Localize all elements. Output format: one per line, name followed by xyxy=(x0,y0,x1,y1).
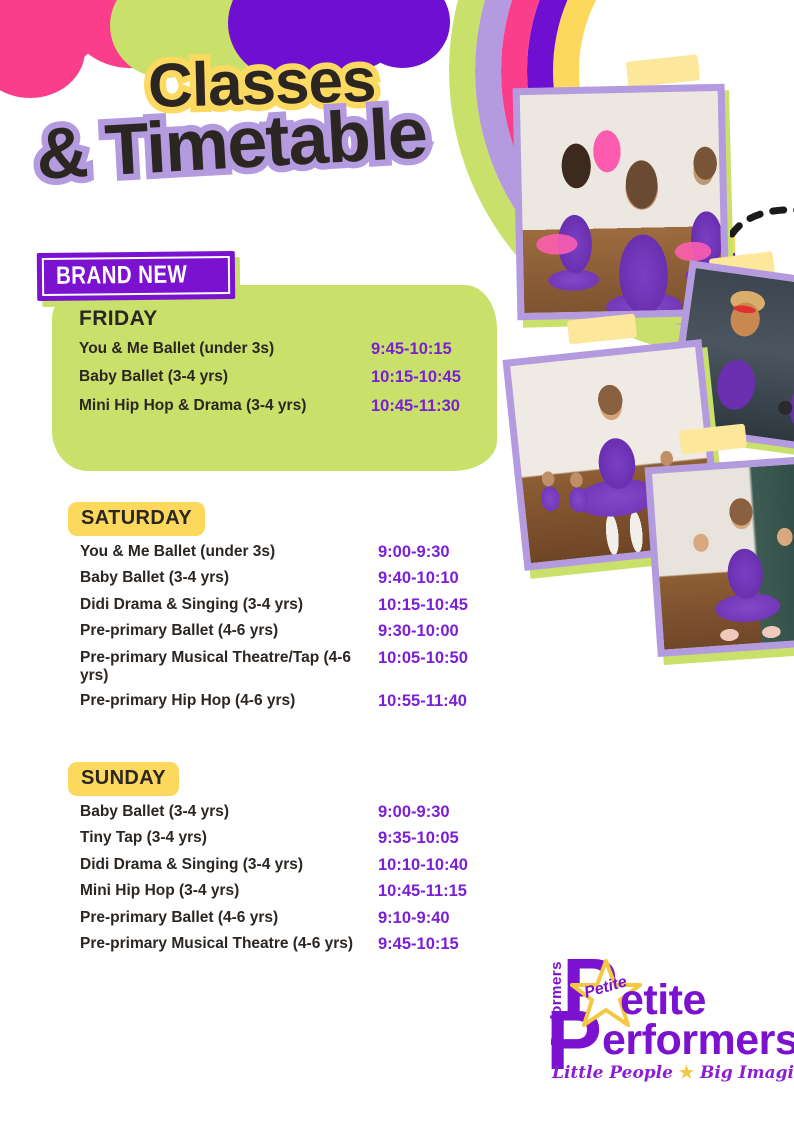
class-name: You & Me Ballet (under 3s) xyxy=(79,340,371,358)
class-time: 9:45-10:15 xyxy=(371,340,452,359)
class-time: 9:10-9:40 xyxy=(378,909,450,928)
schedule-section-saturday: SATURDAY You & Me Ballet (under 3s) 9:00… xyxy=(68,502,498,719)
photo-4-girl-hands-up xyxy=(645,455,794,657)
class-rows-saturday: You & Me Ballet (under 3s) 9:00-9:30 Bab… xyxy=(68,543,510,712)
logo-word-petite: etite xyxy=(620,983,706,1017)
class-name: You & Me Ballet (under 3s) xyxy=(80,543,378,561)
class-name: Mini Hip Hop (3-4 yrs) xyxy=(80,882,378,900)
logo-vertical-word: Performers xyxy=(548,961,565,1046)
poster-page: Classes & Timetable xyxy=(0,0,794,1123)
class-name: Baby Ballet (3-4 yrs) xyxy=(79,368,371,386)
class-time: 10:05-10:50 xyxy=(378,649,468,668)
table-row: Baby Ballet (3-4 yrs) 10:15-10:45 xyxy=(79,368,489,387)
class-name: Mini Hip Hop & Drama (3-4 yrs) xyxy=(79,397,371,415)
class-time: 10:15-10:45 xyxy=(371,368,461,387)
table-row: Mini Hip Hop & Drama (3-4 yrs) 10:45-11:… xyxy=(79,397,489,416)
photo-collage xyxy=(505,55,794,635)
class-name: Pre-primary Hip Hop (4-6 yrs) xyxy=(80,692,378,710)
class-time: 10:55-11:40 xyxy=(378,692,467,711)
table-row: Tiny Tap (3-4 yrs) 9:35-10:05 xyxy=(80,829,510,848)
class-time: 9:30-10:00 xyxy=(378,622,459,641)
class-time: 9:00-9:30 xyxy=(378,543,450,562)
day-heading-friday: FRIDAY xyxy=(79,307,489,331)
tape-strip-1 xyxy=(626,54,700,87)
class-time: 9:40-10:10 xyxy=(378,569,459,588)
class-time: 10:10-10:40 xyxy=(378,856,468,875)
table-row: Baby Ballet (3-4 yrs) 9:40-10:10 xyxy=(80,569,510,588)
brand-new-badge: BRAND NEW xyxy=(37,251,236,301)
table-row: You & Me Ballet (under 3s) 9:00-9:30 xyxy=(80,543,510,562)
page-title: Classes & Timetable xyxy=(0,48,520,188)
schedule-section-sunday: SUNDAY Baby Ballet (3-4 yrs) 9:00-9:30 T… xyxy=(68,762,498,962)
class-time: 9:00-9:30 xyxy=(378,803,450,822)
class-name: Pre-primary Musical Theatre (4-6 yrs) xyxy=(80,935,378,953)
table-row: Didi Drama & Singing (3-4 yrs) 10:15-10:… xyxy=(80,596,510,615)
class-time: 9:45-10:15 xyxy=(378,935,459,954)
logo-word-performers: erformers xyxy=(602,1023,794,1057)
table-row: Baby Ballet (3-4 yrs) 9:00-9:30 xyxy=(80,803,510,822)
table-row: Pre-primary Ballet (4-6 yrs) 9:10-9:40 xyxy=(80,909,510,928)
tagline-left: Little People xyxy=(552,1063,673,1083)
class-name: Pre-primary Ballet (4-6 yrs) xyxy=(80,622,378,640)
brand-new-badge-label: BRAND NEW xyxy=(56,262,187,288)
class-name: Baby Ballet (3-4 yrs) xyxy=(80,803,378,821)
class-name: Didi Drama & Singing (3-4 yrs) xyxy=(80,596,378,614)
class-name: Didi Drama & Singing (3-4 yrs) xyxy=(80,856,378,874)
day-heading-saturday: SATURDAY xyxy=(68,502,205,536)
table-row: Pre-primary Ballet (4-6 yrs) 9:30-10:00 xyxy=(80,622,510,641)
day-heading-sunday: SUNDAY xyxy=(68,762,179,796)
class-time: 10:45-11:15 xyxy=(378,882,467,901)
class-time: 10:15-10:45 xyxy=(378,596,468,615)
schedule-section-friday: FRIDAY You & Me Ballet (under 3s) 9:45-1… xyxy=(79,307,489,425)
tagline-star-icon: ★ xyxy=(679,1063,694,1083)
class-name: Pre-primary Musical Theatre/Tap (4-6 yrs… xyxy=(80,649,378,686)
brand-new-badge-inner: BRAND NEW xyxy=(42,256,230,296)
class-time: 9:35-10:05 xyxy=(378,829,459,848)
class-name: Baby Ballet (3-4 yrs) xyxy=(80,569,378,587)
table-row: Pre-primary Hip Hop (4-6 yrs) 10:55-11:4… xyxy=(80,692,510,711)
dashed-line-icon xyxy=(730,200,794,240)
title-line-timetable: & Timetable xyxy=(34,92,428,196)
table-row: Pre-primary Musical Theatre/Tap (4-6 yrs… xyxy=(80,649,510,686)
class-time: 10:45-11:30 xyxy=(371,397,460,416)
class-name: Pre-primary Ballet (4-6 yrs) xyxy=(80,909,378,927)
table-row: Didi Drama & Singing (3-4 yrs) 10:10-10:… xyxy=(80,856,510,875)
class-rows-friday: You & Me Ballet (under 3s) 9:45-10:15 Ba… xyxy=(79,340,489,416)
table-row: You & Me Ballet (under 3s) 9:45-10:15 xyxy=(79,340,489,359)
table-row: Pre-primary Musical Theatre (4-6 yrs) 9:… xyxy=(80,935,510,954)
logo-tagline: Little People ★ Big Imaginations! xyxy=(552,1063,782,1083)
photo-4-image xyxy=(652,462,794,649)
tagline-right: Big Imaginations! xyxy=(700,1063,794,1083)
petite-performers-logo: P P Performers Petite etite erformers Li… xyxy=(540,955,780,1085)
table-row: Mini Hip Hop (3-4 yrs) 10:45-11:15 xyxy=(80,882,510,901)
class-name: Tiny Tap (3-4 yrs) xyxy=(80,829,378,847)
class-rows-sunday: Baby Ballet (3-4 yrs) 9:00-9:30 Tiny Tap… xyxy=(68,803,510,955)
